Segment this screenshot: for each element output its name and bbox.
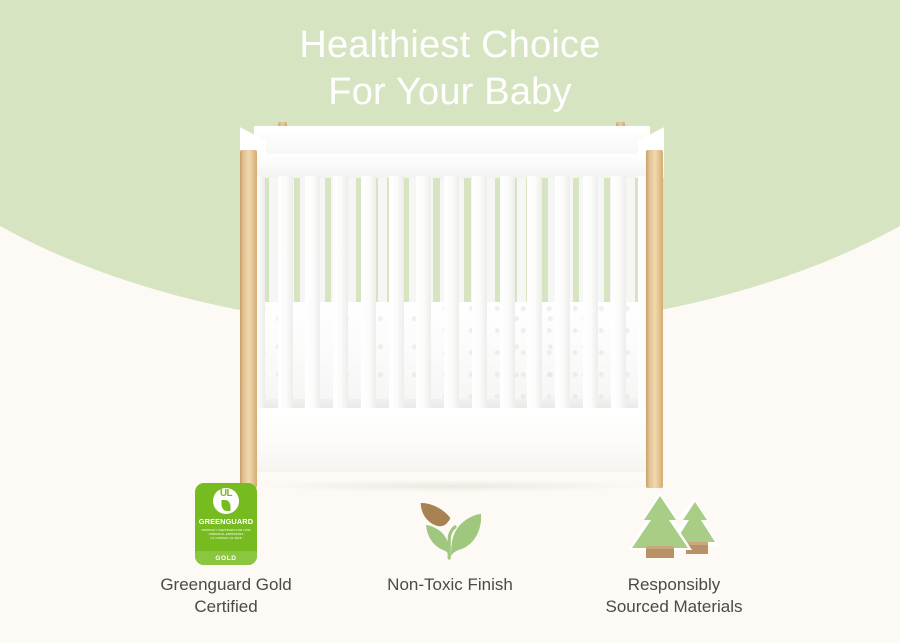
headline-line-2: For Your Baby — [0, 69, 900, 116]
feature-non-toxic: Non-Toxic Finish — [344, 482, 556, 596]
crib-rail-front — [240, 154, 664, 178]
page-title: Healthiest Choice For Your Baby — [0, 22, 900, 116]
greenguard-fine-print: PRODUCT CERTIFIED FOR LOW CHEMICAL EMISS… — [201, 528, 251, 541]
crib-post-front-right — [646, 150, 663, 488]
greenguard-tier-text: GOLD — [215, 555, 236, 562]
feature-label-sourced-materials: Responsibly Sourced Materials — [605, 574, 742, 619]
feature-greenguard: UL GREENGUARD PRODUCT CERTIFIED FOR LOW … — [120, 482, 332, 619]
feature-label-line-1: Responsibly — [605, 574, 742, 596]
two-leaves-icon — [410, 482, 490, 566]
greenguard-gold-badge-icon: UL GREENGUARD PRODUCT CERTIFIED FOR LOW … — [195, 482, 257, 566]
pine-trees-icon — [622, 482, 726, 566]
crib-rail-back — [254, 126, 650, 156]
feature-label-greenguard: Greenguard Gold Certified — [160, 574, 291, 619]
greenguard-wordmark: GREENGUARD — [199, 517, 253, 526]
ul-leaf-icon — [222, 500, 231, 511]
feature-label-line-2: Certified — [160, 596, 291, 618]
crib-slats-front — [244, 176, 660, 416]
crib-product-image — [232, 116, 672, 488]
feature-list: UL GREENGUARD PRODUCT CERTIFIED FOR LOW … — [120, 482, 780, 619]
crib-base-panel — [246, 412, 658, 472]
marketing-banner: Healthiest Choice For Your Baby UL — [0, 0, 900, 643]
headline-line-1: Healthiest Choice — [0, 22, 900, 69]
greenguard-tier-bar: GOLD — [195, 551, 257, 565]
feature-label-non-toxic: Non-Toxic Finish — [387, 574, 513, 596]
ul-mark-icon: UL — [213, 488, 239, 514]
crib-post-front-left — [240, 150, 257, 488]
feature-sourced-materials: Responsibly Sourced Materials — [568, 482, 780, 619]
feature-label-line-1: Greenguard Gold — [160, 574, 291, 596]
feature-label-line-2: Sourced Materials — [605, 596, 742, 618]
ul-mark-text: UL — [220, 488, 232, 499]
feature-label-line-1: Non-Toxic Finish — [387, 574, 513, 596]
